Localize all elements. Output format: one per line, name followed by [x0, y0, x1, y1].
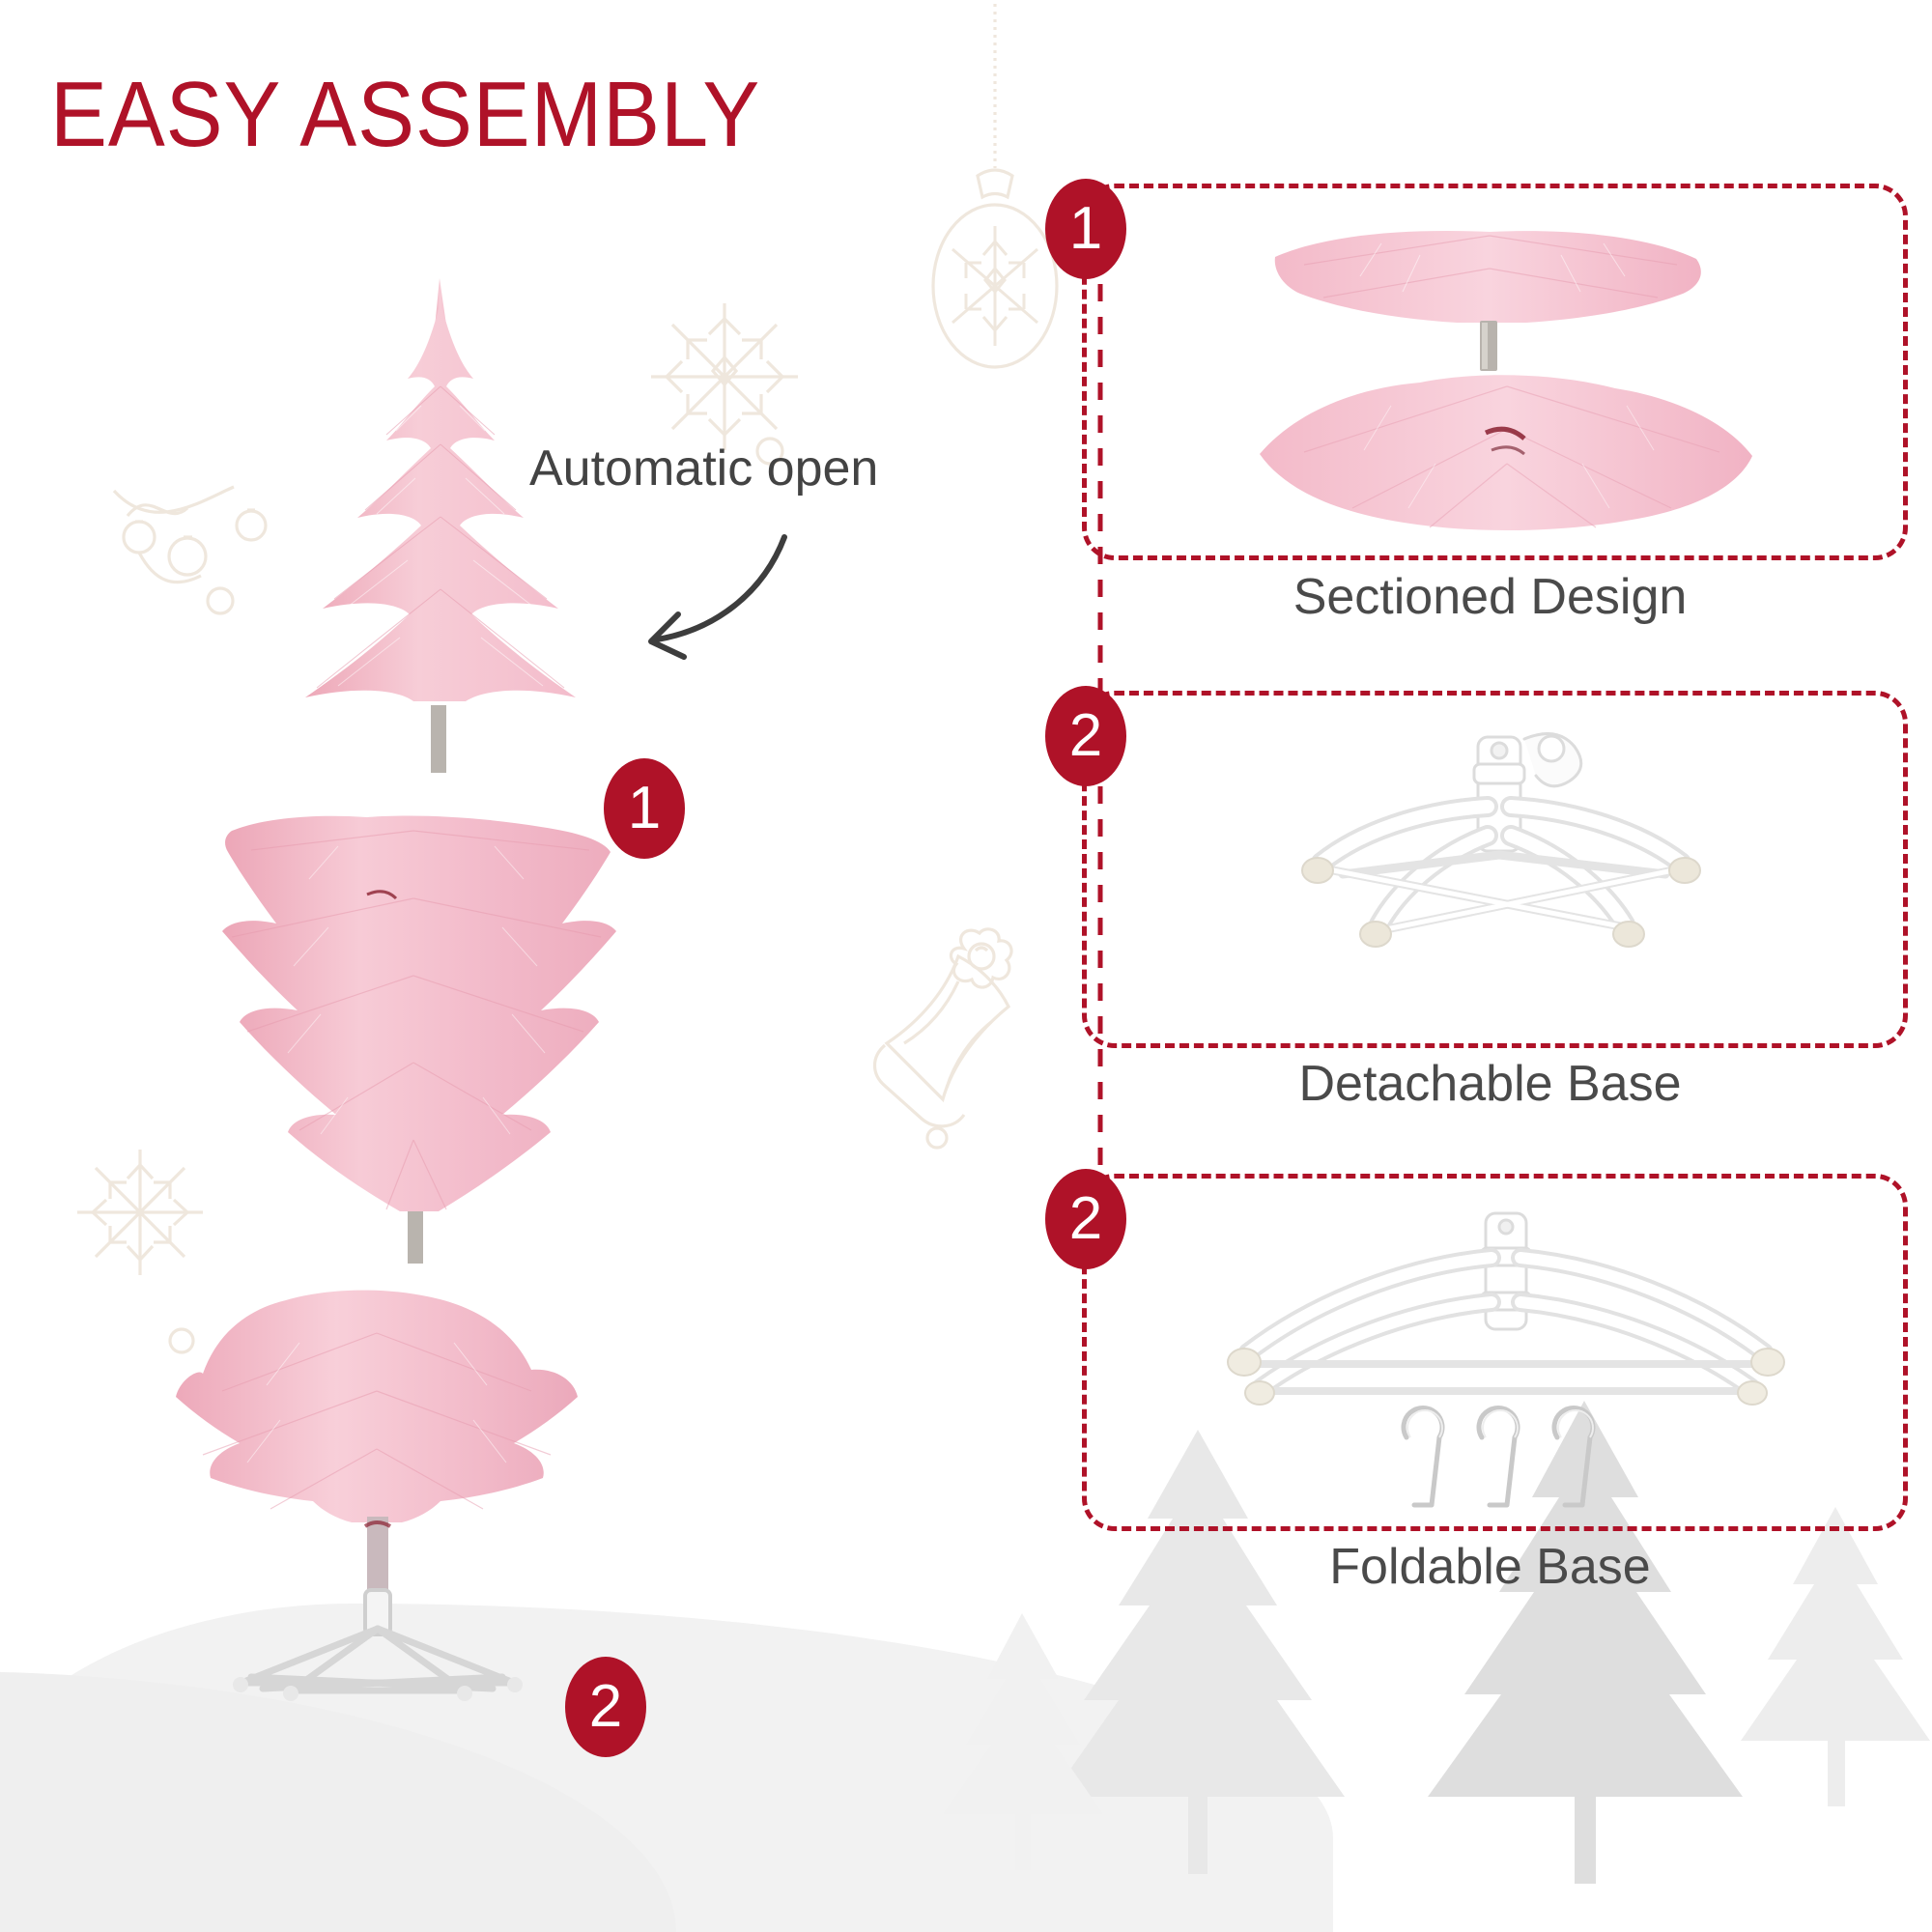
infographic-canvas: EASY ASSEMBLY [0, 0, 1932, 1932]
page-title: EASY ASSEMBLY [50, 68, 760, 162]
step-badge-1-left: 1 [604, 758, 685, 859]
step-badge-2-left: 2 [565, 1657, 646, 1757]
card-badge-3: 2 [1045, 1169, 1126, 1269]
tree-bottom-section-with-stand [145, 1285, 609, 1719]
tree-top-section [241, 270, 647, 811]
card-caption-detachable-base: Detachable Base [1082, 1055, 1898, 1113]
snowflake-icon-small [68, 1140, 213, 1285]
card-sectioned-design [1082, 184, 1908, 560]
snowflake-icon [638, 290, 811, 464]
bell-icon [850, 927, 1053, 1150]
card-badge-1: 1 [1045, 179, 1126, 279]
tree-middle-section [193, 811, 638, 1275]
automatic-open-label: Automatic open [529, 440, 878, 497]
card-caption-sectioned-design: Sectioned Design [1082, 568, 1898, 626]
card-foldable-base [1082, 1174, 1908, 1531]
card-detachable-base [1082, 691, 1908, 1048]
card-badge-2: 2 [1045, 686, 1126, 786]
card-caption-foldable-base: Foldable Base [1082, 1538, 1898, 1596]
